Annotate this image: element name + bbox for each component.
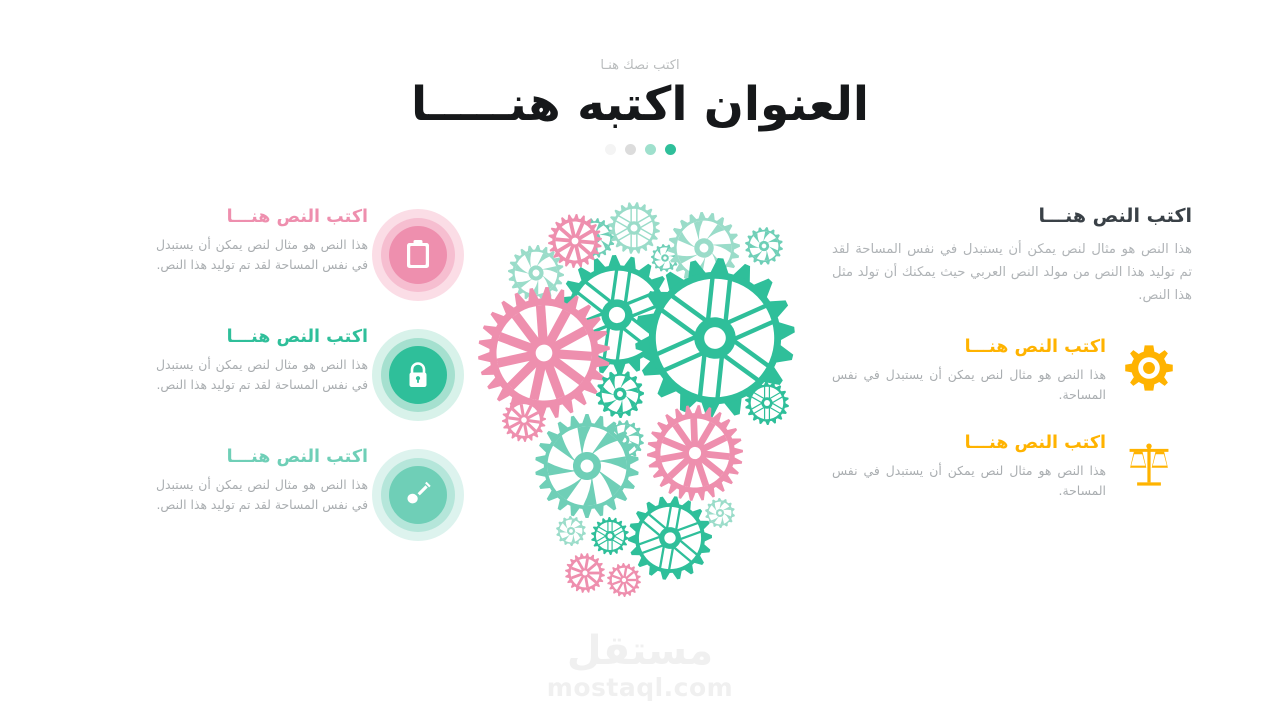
dot-2 (625, 144, 636, 155)
feature-body: هذا النص هو مثال لنص يمكن أن يستبدل في ن… (832, 365, 1106, 405)
feature-item-clipboard[interactable]: اكتب النص هنـــا هذا النص هو مثال لنص يم… (118, 205, 468, 301)
progress-dots (0, 144, 1280, 155)
feature-icon-wrap (1106, 433, 1192, 491)
lead-body: هذا النص هو مثال لنص يمكن أن يستبدل في ن… (832, 238, 1192, 307)
lock-icon (405, 360, 431, 390)
lead-paragraph-block: اكتب النص هنـــا هذا النص هو مثال لنص يم… (832, 205, 1192, 307)
feature-item-scales[interactable]: اكتب النص هنـــا هذا النص هو مثال لنص يم… (832, 433, 1192, 501)
feature-heading: اكتب النص هنـــا (832, 337, 1106, 358)
feature-text: اكتب النص هنـــا هذا النص هو مثال لنص يم… (832, 337, 1106, 405)
slide-header: اكتب نصك هنـا العنوان اكتبه هنـــــا (0, 0, 1280, 155)
gear (591, 517, 629, 555)
lock-badge[interactable] (372, 329, 464, 421)
feature-heading: اكتب النص هنـــا (156, 447, 368, 468)
gear (705, 498, 735, 528)
feature-heading: اكتب النص هنـــا (156, 327, 368, 348)
feature-item-guitar[interactable]: اكتب النص هنـــا هذا النص هو مثال لنص يم… (118, 445, 468, 541)
gear-cluster-illustration (462, 198, 812, 608)
guitar-badge[interactable] (372, 449, 464, 541)
gear (556, 516, 586, 546)
watermark: مستقل mostaql.com (0, 631, 1280, 702)
gear (642, 400, 747, 505)
feature-body: هذا النص هو مثال لنص يمكن أن يستبدل في ن… (832, 461, 1106, 501)
right-feature-column: اكتب النص هنـــا هذا النص هو مثال لنص يم… (832, 205, 1192, 523)
dot-4 (665, 144, 676, 155)
feature-badge-wrap (368, 445, 468, 541)
dot-1 (605, 144, 616, 155)
feature-icon-wrap (1106, 337, 1192, 395)
gear (608, 202, 660, 254)
gear (745, 227, 783, 265)
feature-body: هذا النص هو مثال لنص يمكن أن يستبدل في ن… (156, 235, 368, 275)
feature-badge-wrap (368, 205, 468, 301)
lead-text: اكتب النص هنـــا هذا النص هو مثال لنص يم… (832, 205, 1192, 307)
feature-heading: اكتب النص هنـــا (156, 207, 368, 228)
guitar-icon (403, 480, 433, 510)
gear (607, 563, 641, 597)
gear-cluster-svg (462, 198, 812, 608)
watermark-arabic: مستقل (567, 631, 713, 671)
feature-text: اكتب النص هنـــا هذا النص هو مثال لنص يم… (156, 445, 368, 515)
gear (565, 553, 605, 593)
lead-heading: اكتب النص هنـــا (832, 205, 1192, 228)
page-title: العنوان اكتبه هنـــــا (0, 79, 1280, 132)
header-subtitle: اكتب نصك هنـا (0, 58, 1280, 73)
feature-heading: اكتب النص هنـــا (832, 433, 1106, 454)
feature-body: هذا النص هو مثال لنص يمكن أن يستبدل في ن… (156, 475, 368, 515)
feature-body: هذا النص هو مثال لنص يمكن أن يستبدل في ن… (156, 355, 368, 395)
feature-text: اكتب النص هنـــا هذا النص هو مثال لنص يم… (156, 325, 368, 395)
dot-3 (645, 144, 656, 155)
feature-item-lock[interactable]: اكتب النص هنـــا هذا النص هو مثال لنص يم… (118, 325, 468, 421)
feature-item-gear[interactable]: اكتب النص هنـــا هذا النص هو مثال لنص يم… (832, 337, 1192, 405)
watermark-latin: mostaql.com (547, 673, 733, 702)
feature-text: اكتب النص هنـــا هذا النص هو مثال لنص يم… (156, 205, 368, 275)
feature-text: اكتب النص هنـــا هذا النص هو مثال لنص يم… (832, 433, 1106, 501)
left-feature-column: اكتب النص هنـــا هذا النص هو مثال لنص يم… (118, 205, 468, 565)
feature-badge-wrap (368, 325, 468, 421)
clipboard-badge[interactable] (372, 209, 464, 301)
slide-canvas: اكتب نصك هنـا العنوان اكتبه هنـــــا اكت… (0, 0, 1280, 720)
gear-icon (1122, 341, 1176, 395)
clipboard-icon (405, 240, 431, 270)
scales-icon (1122, 437, 1176, 491)
